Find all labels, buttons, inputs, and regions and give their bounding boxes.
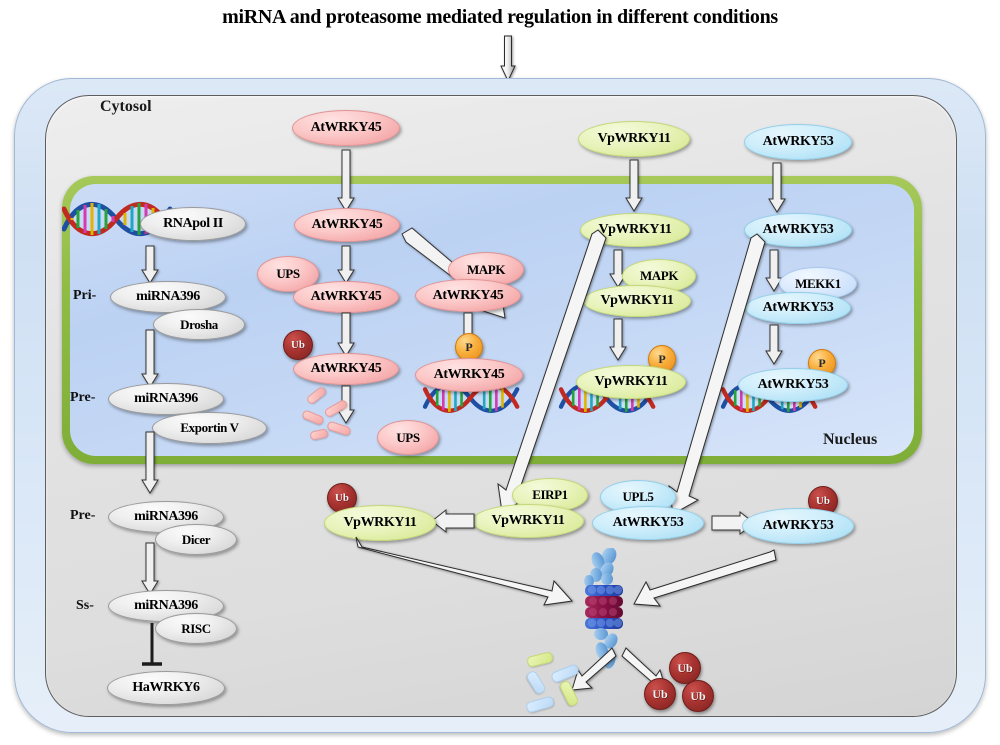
node-atwrky53-upl5-bound[interactable]: AtWRKY53 (592, 506, 704, 540)
arrow-eirp1-ubiquitin-transfer (432, 510, 474, 532)
ub-badge-released: Ub (644, 678, 676, 710)
arrow-nuclear-export (141, 432, 159, 494)
arrow-rnapol2-to-pri (141, 246, 159, 284)
label-pri: Pri- (73, 288, 96, 304)
arrow-atwrky53-to-proteasome (634, 548, 778, 610)
node-pre-mirna396-nuclear[interactable]: miRNA396 (108, 383, 224, 415)
ub-badge-released: Ub (682, 680, 714, 712)
node-atwrky53-cytosol[interactable]: AtWRKY53 (744, 124, 852, 160)
diagram-canvas: miRNA and proteasome mediated regulation… (0, 0, 1000, 745)
node-exportin-v[interactable]: Exportin V (152, 412, 267, 444)
node-ups-lower[interactable]: UPS (377, 420, 439, 455)
node-risc[interactable]: RISC (155, 613, 237, 644)
node-atwrky45-ubiquitinated[interactable]: AtWRKY45 (293, 353, 399, 385)
arrow-atwrky45-import (337, 150, 355, 212)
node-atwrky45-ups-bound[interactable]: AtWRKY45 (293, 281, 399, 313)
node-dicer[interactable]: Dicer (155, 524, 237, 555)
label-pre-cytosolic: Pre- (70, 508, 95, 524)
arrow-atwrky53-phosphorylation (765, 325, 783, 365)
arrow-vpwrky11-to-proteasome (352, 535, 574, 609)
arrow-proteasome-to-peptides (572, 646, 618, 694)
node-rnapol2[interactable]: RNApol II (140, 207, 246, 241)
label-ss: Ss- (76, 598, 94, 614)
arrow-vpwrky11-nuclear-export (492, 228, 608, 514)
arrow-atwrky53-import (768, 163, 786, 213)
node-atwrky53-ubiquitinated[interactable]: AtWRKY53 (742, 508, 854, 544)
arrow-vpwrky11-phosphorylation (609, 319, 627, 361)
p-badge-atwrky45: P (455, 333, 483, 361)
nucleus-label: Nucleus (823, 431, 877, 449)
node-atwrky45-cytosol[interactable]: AtWRKY45 (292, 110, 400, 146)
arrow-vpwrky11-import (625, 160, 643, 212)
node-hawrky6[interactable]: HaWRKY6 (107, 671, 225, 705)
node-vpwrky11-cytosol[interactable]: VpWRKY11 (578, 121, 690, 157)
node-vpwrky11-eirp1-bound[interactable]: VpWRKY11 (472, 504, 584, 538)
ub-badge-atwrky45: Ub (283, 330, 313, 360)
inhibition-connector-mirna-hawrky6 (140, 623, 164, 676)
title-entry-arrow (500, 36, 516, 82)
node-pri-mirna396[interactable]: miRNA396 (110, 281, 226, 313)
node-drosha[interactable]: Drosha (153, 309, 245, 340)
node-atwrky45-nucleus[interactable]: AtWRKY45 (294, 208, 400, 242)
arrow-atwrky45-ubiquitination (337, 313, 355, 357)
arrow-pre-to-ss (141, 543, 159, 595)
page-title: miRNA and proteasome mediated regulation… (0, 6, 1000, 29)
arrow-atwrky53-nuclear-export (663, 232, 767, 516)
cytosol-label: Cytosol (100, 98, 152, 116)
label-pre-nuclear: Pre- (70, 390, 95, 406)
arrow-atwrky45-to-ups-branch (337, 246, 355, 284)
arrow-pri-to-pre (141, 330, 159, 388)
